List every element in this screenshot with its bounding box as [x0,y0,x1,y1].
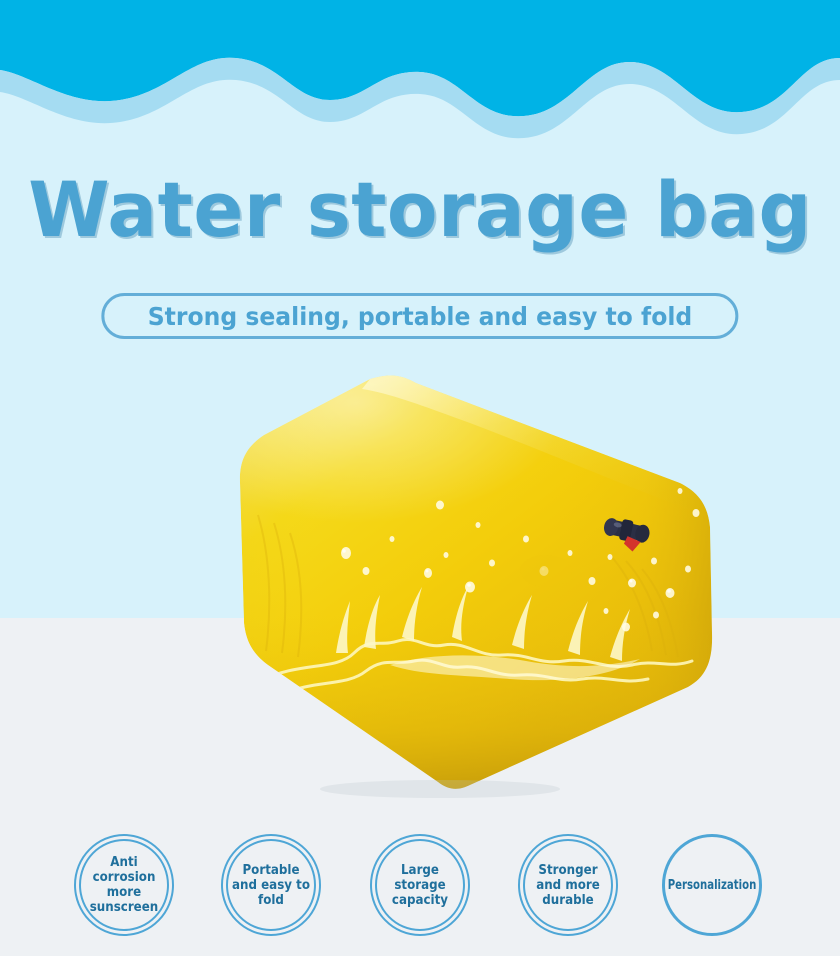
feature-personalization[interactable]: Personalization [662,834,762,936]
feature-label: Personalization [673,834,751,936]
bag-filler-bump [520,555,572,587]
feature-label: Large storage capacity [376,834,464,936]
page-title: Water storage bag [13,168,828,252]
subtitle-text: Strong sealing, portable and easy to fol… [148,303,693,330]
product-image [140,365,730,805]
subtitle-pill: Strong sealing, portable and easy to fol… [101,293,738,339]
feature-label: Anti corrosion more sunscreen [80,834,168,936]
feature-anti-corrosion[interactable]: Anti corrosion more sunscreen [74,834,174,936]
product-shadow [320,780,560,798]
wave-header-decoration [0,0,840,142]
feature-large-storage[interactable]: Large storage capacity [370,834,470,936]
feature-label: Stronger and more durable [524,834,612,936]
product-banner: Water storage bag Strong sealing, portab… [0,0,840,956]
feature-portable[interactable]: Portable and easy to fold [221,834,321,936]
feature-badges: Anti corrosion more sunscreen Portable a… [0,834,840,938]
feature-label: Portable and easy to fold [227,834,315,936]
feature-durable[interactable]: Stronger and more durable [518,834,618,936]
